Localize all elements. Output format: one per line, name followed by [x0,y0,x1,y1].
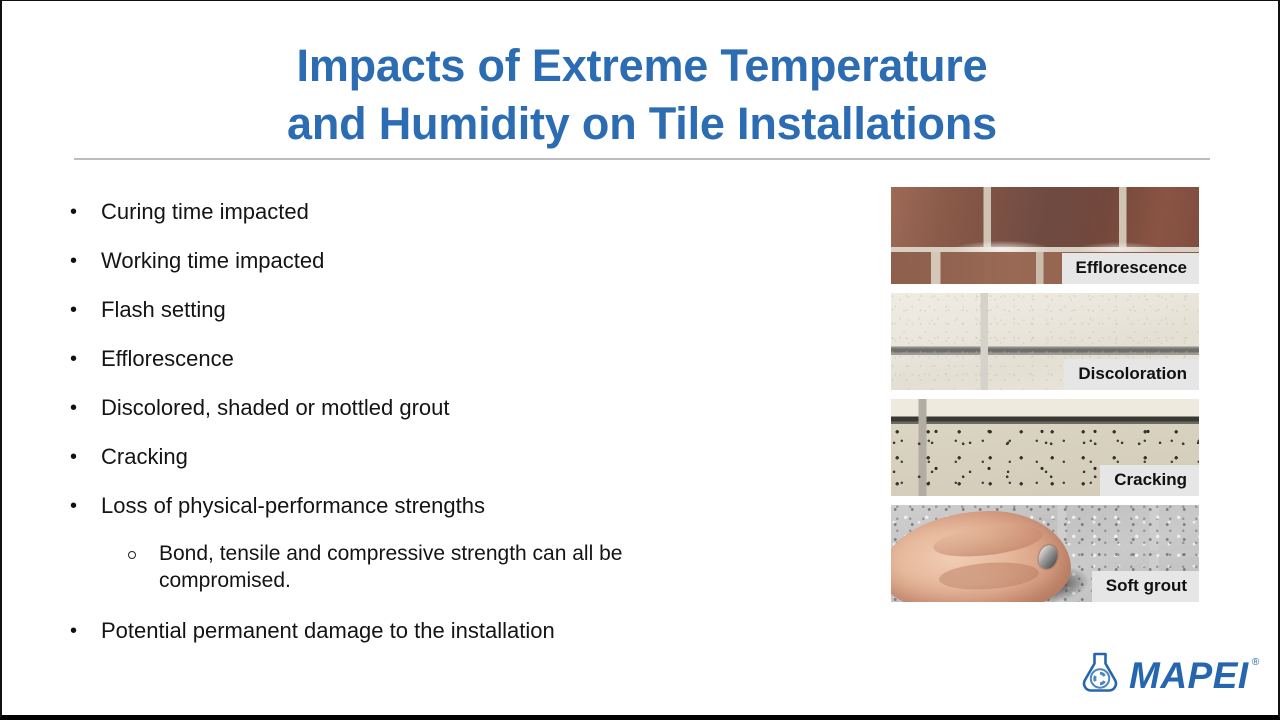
mapei-wordmark: MAPEI ® [1129,657,1249,694]
photo-panel-efflorescence: Efflorescence [891,187,1199,284]
bullet-disc-icon: • [70,393,101,423]
photo-panel-soft-grout: Soft grout [891,505,1199,602]
mapei-logo: MAPEI ® [1080,651,1249,700]
list-item-label: Flash setting [101,295,226,325]
bullet-disc-icon: • [70,442,101,472]
mapei-wordmark-text: MAPEI [1129,655,1249,696]
list-item: • Efflorescence [70,344,810,374]
list-item: • Flash setting [70,295,810,325]
bullet-list: • Curing time impacted • Working time im… [70,197,810,665]
list-item-label: Curing time impacted [101,197,309,227]
photo-caption: Cracking [1100,465,1199,496]
list-item: • Discolored, shaded or mottled grout [70,393,810,423]
bullet-disc-icon: • [70,197,101,227]
list-item-label: Potential permanent damage to the instal… [101,616,555,646]
slide: Impacts of Extreme Temperature and Humid… [0,0,1280,720]
sub-list-item-label: Bond, tensile and compressive strength c… [159,540,659,594]
title-line-2: and Humidity on Tile Installations [2,95,1280,153]
photo-panel-stack: Efflorescence Discoloration Cracking Sof… [891,187,1199,611]
photo-caption: Soft grout [1092,571,1199,602]
list-item: • Loss of physical-performance strengths [70,491,810,521]
list-item-label: Discolored, shaded or mottled grout [101,393,450,423]
bullet-disc-icon: • [70,616,101,646]
registered-trademark-mark: ® [1252,658,1260,668]
list-item: • Potential permanent damage to the inst… [70,616,810,646]
photo-caption: Efflorescence [1062,253,1200,284]
bullet-disc-icon: • [70,246,101,276]
page-title: Impacts of Extreme Temperature and Humid… [2,37,1280,153]
photo-caption: Discoloration [1064,359,1199,390]
list-item-label: Efflorescence [101,344,234,374]
title-line-1: Impacts of Extreme Temperature [2,37,1280,95]
list-item: • Curing time impacted [70,197,810,227]
photo-panel-cracking: Cracking [891,399,1199,496]
list-item-label: Cracking [101,442,188,472]
title-divider [74,158,1210,160]
bullet-disc-icon: • [70,295,101,325]
sub-list-item: Bond, tensile and compressive strength c… [128,540,810,594]
list-item: • Cracking [70,442,810,472]
mapei-flask-icon [1080,651,1120,700]
list-item-label: Working time impacted [101,246,324,276]
list-item-label: Loss of physical-performance strengths [101,491,485,521]
bullet-disc-icon: • [70,491,101,521]
list-item: • Working time impacted [70,246,810,276]
photo-panel-discoloration: Discoloration [891,293,1199,390]
bullet-disc-icon: • [70,344,101,374]
